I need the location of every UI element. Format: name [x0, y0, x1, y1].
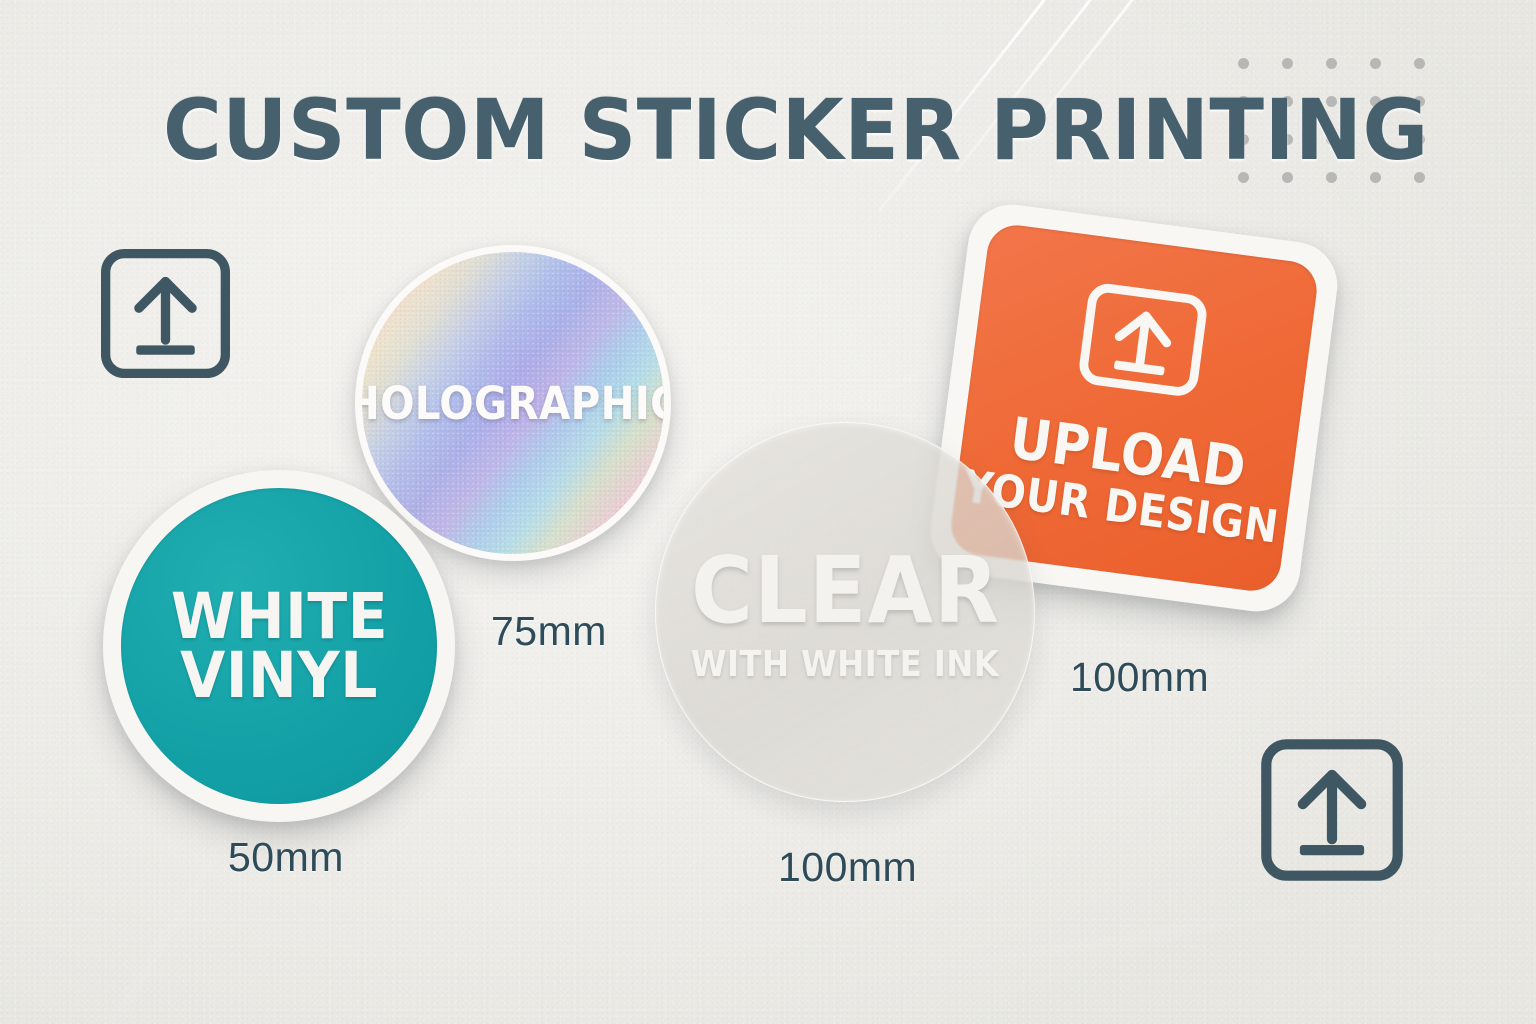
- sticker-label-line2: VINYL: [180, 646, 378, 705]
- sticker-white-vinyl[interactable]: WHITE VINYL: [103, 470, 455, 822]
- upload-icon: [1259, 737, 1405, 888]
- grid-dot: [1326, 58, 1337, 69]
- grid-dot: [1414, 58, 1425, 69]
- size-label-clear: 100mm: [778, 844, 917, 891]
- light-sweep: [37, 783, 262, 1024]
- sticker-label-line1: CLEAR: [691, 547, 1000, 634]
- size-label-upload: 100mm: [1070, 654, 1209, 701]
- grid-dot: [1282, 58, 1293, 69]
- grid-dot: [1238, 58, 1249, 69]
- sticker-face: WHITE VINYL: [121, 488, 437, 804]
- size-label-white-vinyl: 50mm: [228, 834, 344, 881]
- sticker-clear[interactable]: CLEAR WITH WHITE INK: [655, 422, 1035, 802]
- light-sweep: [824, 875, 1516, 988]
- sticker-label-line2: WITH WHITE INK: [691, 644, 999, 685]
- sticker-holographic[interactable]: HOLOGRAPHIC: [355, 245, 671, 561]
- size-label-holographic: 75mm: [491, 608, 607, 655]
- grid-dot: [1370, 58, 1381, 69]
- sticker-label: HOLOGRAPHIC: [362, 377, 664, 430]
- poster-canvas: CUSTOM STICKER PRINTING HOLOGRAPHIC WHIT…: [0, 0, 1536, 1024]
- sticker-face: HOLOGRAPHIC: [362, 252, 664, 554]
- sticker-label-line1: WHITE: [170, 587, 387, 646]
- page-title: CUSTOM STICKER PRINTING: [163, 88, 1435, 172]
- upload-icon: [99, 247, 232, 385]
- upload-icon: [1071, 273, 1213, 419]
